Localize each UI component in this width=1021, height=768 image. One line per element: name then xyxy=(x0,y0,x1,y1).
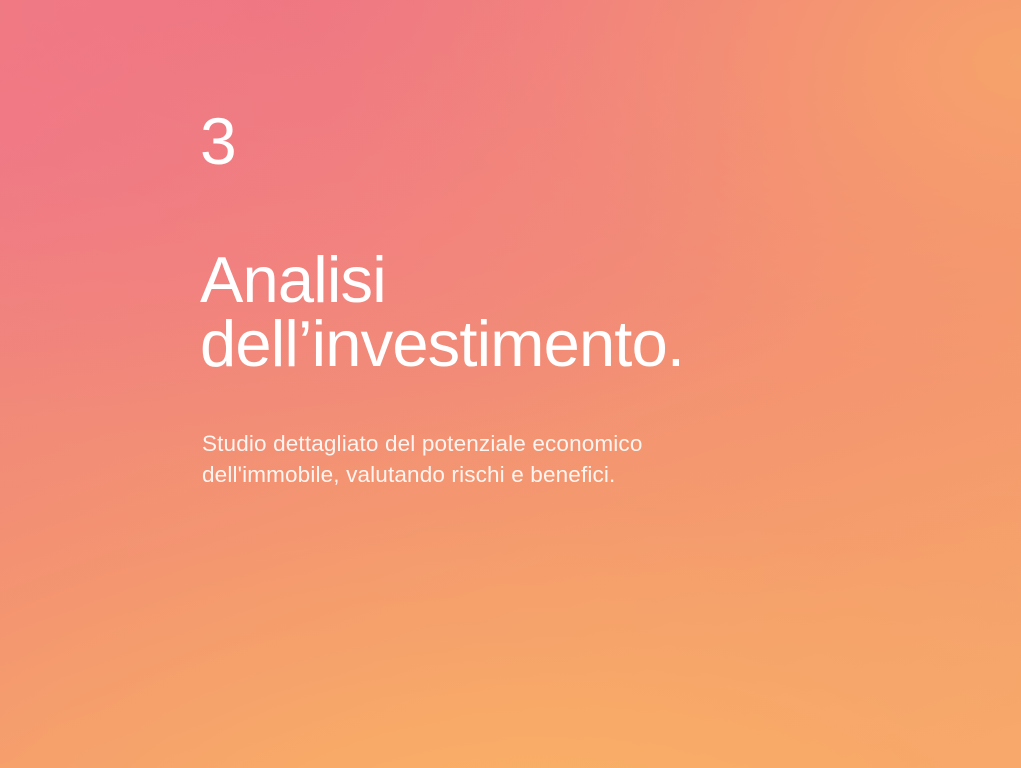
section-number: 3 xyxy=(200,108,236,174)
page-title-line-1: Analisi xyxy=(200,248,684,312)
slide-subtitle-line-1: Studio dettagliato del potenziale econom… xyxy=(202,428,643,459)
page-title: Analisi dell’investimento. xyxy=(200,248,684,376)
slide-subtitle: Studio dettagliato del potenziale econom… xyxy=(202,428,643,490)
page-title-line-2: dell’investimento. xyxy=(200,312,684,376)
slide-content: 3 Analisi dell’investimento. Studio dett… xyxy=(200,0,960,768)
slide-subtitle-line-2: dell'immobile, valutando rischi e benefi… xyxy=(202,459,643,490)
presentation-slide: 3 Analisi dell’investimento. Studio dett… xyxy=(0,0,1021,768)
